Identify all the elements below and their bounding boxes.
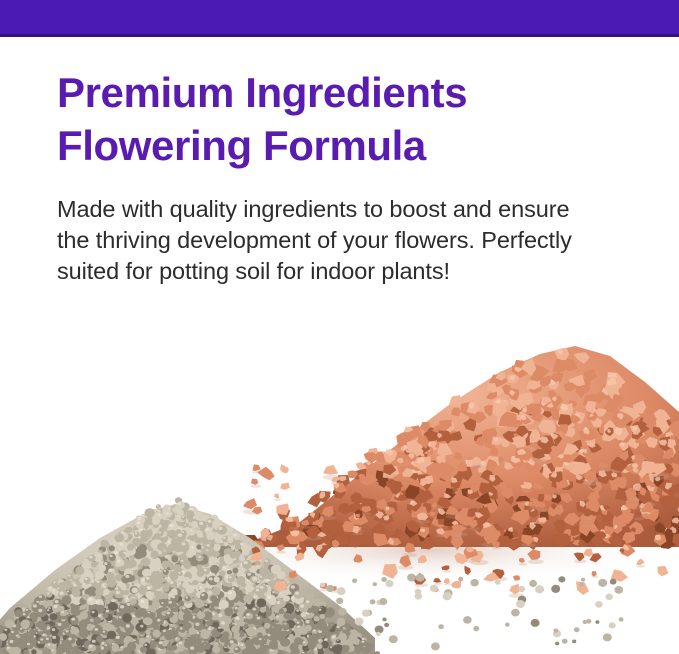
- granule-piles-illustration: [0, 332, 679, 654]
- description-text: Made with quality ingredients to boost a…: [57, 172, 577, 287]
- top-accent-bar: [0, 0, 679, 34]
- page-title: Premium Ingredients Flowering Formula: [57, 66, 577, 172]
- text-block: Premium Ingredients Flowering Formula Ma…: [57, 66, 577, 287]
- product-photo: [0, 332, 679, 654]
- top-accent-bar-edge: [0, 34, 679, 37]
- product-feature-card: Premium Ingredients Flowering Formula Ma…: [0, 0, 679, 654]
